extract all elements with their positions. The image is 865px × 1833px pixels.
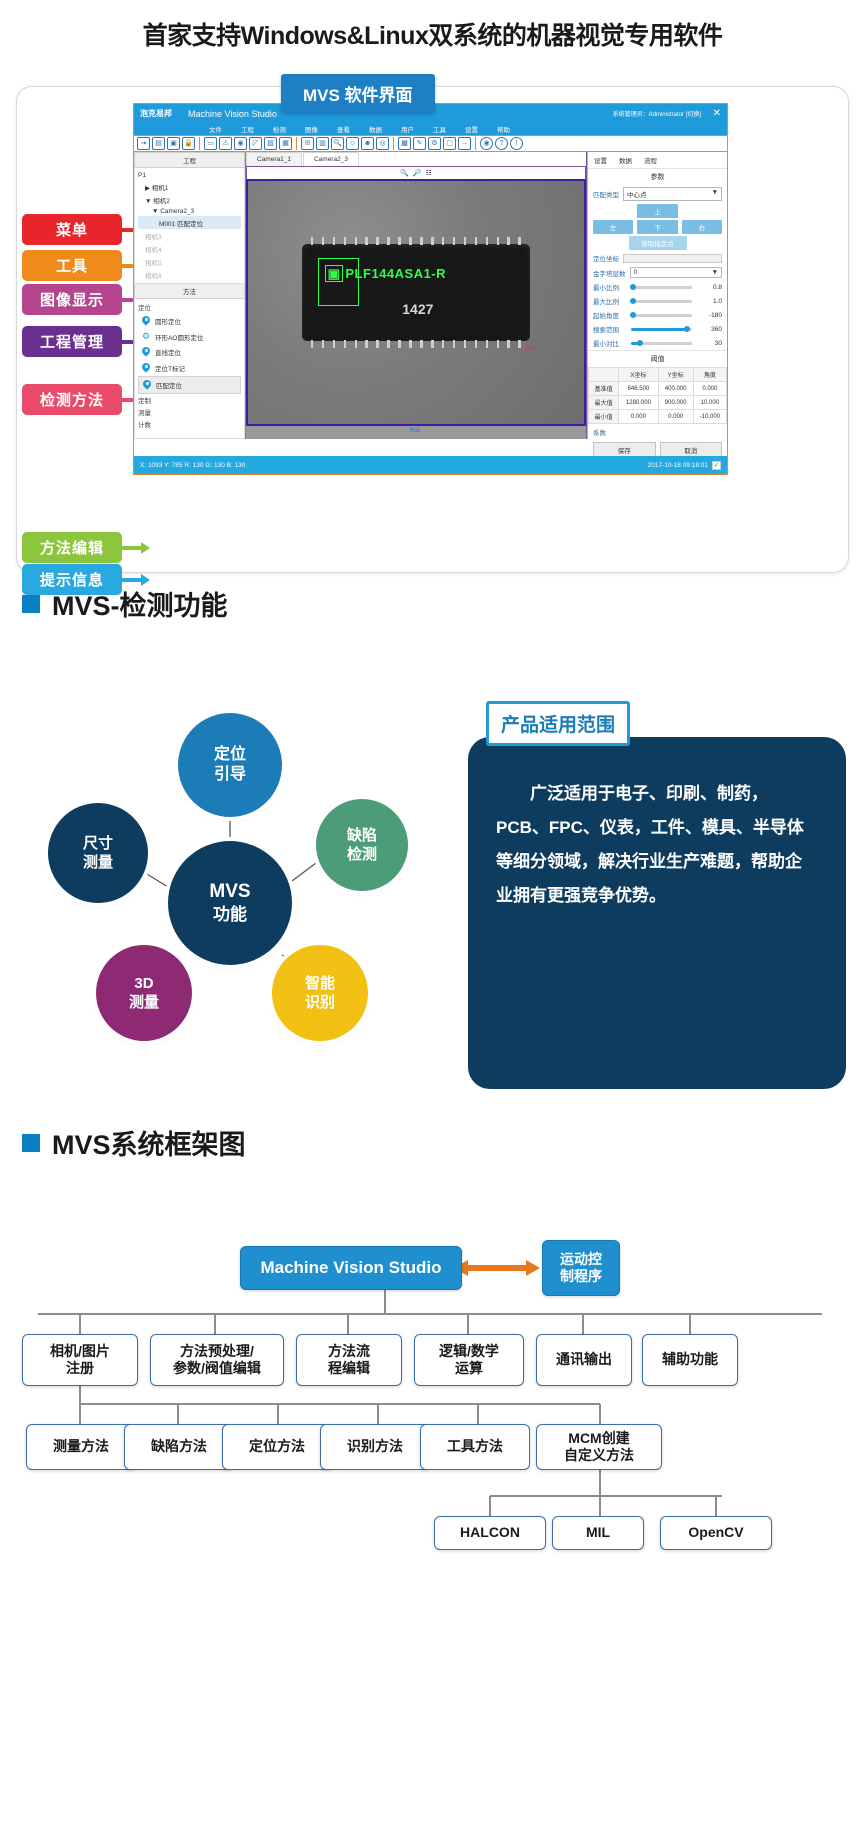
callout-status-info-label: 提示信息 xyxy=(40,572,104,589)
display-icon[interactable]: ▢ xyxy=(443,137,456,150)
function-wheel: 定位 引导 缺陷 检测 智能 识别 3D 测量 尺寸 测量 MVS 功能 xyxy=(10,703,450,1093)
menu-item-5[interactable]: 数据 xyxy=(369,124,382,134)
tree-node-6[interactable]: 相机4 xyxy=(138,242,241,255)
framework-l1-box-4-line0: 通讯输出 xyxy=(556,1351,612,1369)
load-file-icon[interactable]: ▣ xyxy=(167,137,180,150)
threshold-title: 阈值 xyxy=(588,350,727,367)
slider-row-1: 最大比例1.0 xyxy=(588,294,727,308)
grid-icon[interactable]: ▩ xyxy=(398,137,411,150)
mvs-app-title: Machine Vision Studio xyxy=(188,109,277,119)
slider-track-2[interactable] xyxy=(631,314,692,317)
callout-method-edit: 方法编辑 xyxy=(22,532,122,563)
framework-l3-box-0-line0: HALCON xyxy=(460,1524,520,1542)
framework-l1-box-0[interactable]: 相机/图片注册 xyxy=(22,1334,138,1386)
target-icon[interactable]: ◎ xyxy=(376,137,389,150)
zoom-out-icon[interactable]: 🔎 xyxy=(413,169,422,177)
document-search-icon[interactable]: ▦ xyxy=(279,137,292,150)
mail-icon[interactable]: ✉ xyxy=(301,137,314,150)
slider-label-0: 最小比例 xyxy=(593,282,627,292)
slider-track-0[interactable] xyxy=(631,286,692,289)
tree-node-4[interactable]: M001 匹配定位 xyxy=(138,216,241,229)
slider-knob-3[interactable] xyxy=(684,326,690,332)
pyramid-row: 金字塔层数 0 ▼ xyxy=(588,265,727,280)
gear-icon: ⚙ xyxy=(142,332,150,341)
info-icon[interactable]: ! xyxy=(510,137,523,150)
framework-l1-box-2-line1: 程编辑 xyxy=(328,1360,370,1378)
framework-l1-box-3-line0: 逻辑/数学 xyxy=(439,1343,499,1361)
method-item-2[interactable]: 直线定位 xyxy=(138,344,241,360)
framework-l1-box-1[interactable]: 方法预处理/参数/阀值编辑 xyxy=(150,1334,284,1386)
heading-bullet-icon xyxy=(22,595,40,613)
slider-row-0: 最小比例0.8 xyxy=(588,280,727,294)
chip-marking-text: ▣PLF144ASA1-R xyxy=(325,266,446,282)
method-group-2[interactable]: 计数 xyxy=(138,418,241,430)
slider-knob-2[interactable] xyxy=(630,312,636,318)
framework-motion-control-box[interactable]: 运动控 制程序 xyxy=(542,1240,620,1296)
tree-node-2[interactable]: ▼ 相机2 xyxy=(138,193,241,206)
parameter-sliders[interactable]: 最小比例0.8最大比例1.0起始角度-180搜索范围360最小对比30 xyxy=(588,280,727,350)
method-item-label-2: 直线定位 xyxy=(155,347,181,357)
get-point-row: 获取指定点 xyxy=(588,235,727,251)
table-cell-2-1: 0.000 xyxy=(619,410,658,424)
function-node-recognition-line2: 识别 xyxy=(305,993,335,1012)
slider-value-0: 0.8 xyxy=(696,284,722,291)
status-timestamp: 2017-10-18 09:18:01 xyxy=(648,462,708,469)
right-tab-1[interactable]: 数据 xyxy=(619,155,632,165)
menu-item-4[interactable]: 查看 xyxy=(337,124,350,134)
table-cell-1-1: 1280.000 xyxy=(619,396,658,410)
callout-menu: 菜单 xyxy=(22,214,122,245)
toolbar-separator xyxy=(393,137,394,150)
table-cell-1-3: 10.000 xyxy=(693,396,726,410)
table-cell-2-0: 最小值 xyxy=(589,410,619,424)
camera-tab-1[interactable]: Camera2_3 xyxy=(303,152,359,166)
wifi-icon[interactable]: ◉ xyxy=(480,137,493,150)
product-scope-text: 广泛适用于电子、印刷、制药，PCB、FPC、仪表，工件、模具、半导体等细分领域，… xyxy=(496,777,818,913)
table-row: 最大值1280.000900.00010.000 xyxy=(589,396,727,410)
zoom-in-icon[interactable]: 🔍 xyxy=(400,169,409,177)
match-type-value: 中心点 xyxy=(627,189,647,199)
slider-row-3: 搜索范围360 xyxy=(588,322,727,336)
table-row: 基准值646.500400.0000.000 xyxy=(589,382,727,396)
locate-coord-row: 定位坐标 xyxy=(588,251,727,265)
right-tab-0[interactable]: 设置 xyxy=(594,155,607,165)
framework-l2-box-2-line0: 定位方法 xyxy=(249,1438,305,1456)
table-cell-2-2: 0.000 xyxy=(658,410,693,424)
threshold-table: X坐标Y坐标角度基准值646.500400.0000.000最大值1280.00… xyxy=(588,367,727,424)
table-header-0 xyxy=(589,368,619,382)
tree-node-0[interactable]: P1 xyxy=(138,170,241,180)
table-header-2: Y坐标 xyxy=(658,368,693,382)
pin-icon xyxy=(142,316,150,327)
menu-item-8[interactable]: 设置 xyxy=(465,124,478,134)
direction-right-button[interactable]: 右 xyxy=(682,220,722,234)
camera-icon[interactable]: ◉ xyxy=(234,137,247,150)
tree-node-1[interactable]: ▶ 相机1 xyxy=(138,180,241,193)
method-item-1[interactable]: ⚙环形AO圆形定位 xyxy=(138,329,241,344)
mvs-center-panel: Camera1_1Camera2_3 🔍 🔎 ☷ ▣PLF144AS xyxy=(246,152,587,439)
callout-tools: 工具 xyxy=(22,250,122,281)
callout-method-edit-label: 方法编辑 xyxy=(40,540,104,557)
framework-l1-box-1-line1: 参数/阀值编辑 xyxy=(173,1360,261,1378)
mvs-left-panel: 工程 P1▶ 相机1▼ 相机2▼ Camera2_3M001 匹配定位相机3相机… xyxy=(134,152,246,439)
framework-diagram: Machine Vision Studio 运动控 制程序 相机/图片注册方法预… xyxy=(0,1234,865,1574)
parameters-title: 参数 xyxy=(588,169,727,185)
slider-track-3[interactable] xyxy=(631,328,692,331)
menu-item-0[interactable]: 文件 xyxy=(209,124,222,134)
camera-tab-0[interactable]: Camera1_1 xyxy=(246,152,302,166)
chevron-down-icon: ▼ xyxy=(712,189,718,199)
framework-motion-control-line1: 运动控 xyxy=(560,1251,602,1269)
locate-coord-label: 定位坐标 xyxy=(593,253,619,263)
mvs-right-panel: 设置数据流程 参数 匹配类型 中心点 ▼ 上 左 下 xyxy=(587,152,727,439)
framework-l1-box-5-line0: 辅助功能 xyxy=(662,1351,718,1369)
slider-row-2: 起始角度-180 xyxy=(588,308,727,322)
callout-tools-label: 工具 xyxy=(56,258,88,275)
slider-row-4: 最小对比30 xyxy=(588,336,727,350)
mvs-status-bar: X: 1093 Y: 785 R: 130 G: 130 B: 130 2017… xyxy=(134,456,727,474)
framework-section-heading: MVS系统框架图 xyxy=(22,1123,865,1162)
function-node-defect[interactable]: 缺陷 检测 xyxy=(316,799,408,891)
function-node-recognition[interactable]: 智能 识别 xyxy=(272,945,368,1041)
framework-l2-box-5-line0: MCM创建 xyxy=(568,1430,629,1448)
framework-l1-box-2-line0: 方法流 xyxy=(328,1343,370,1361)
toolbar-separator xyxy=(296,137,297,150)
callout-project-management-label: 工程管理 xyxy=(40,334,104,351)
right-panel-tabs[interactable]: 设置数据流程 xyxy=(588,152,727,169)
slider-value-1: 1.0 xyxy=(696,298,722,305)
function-node-center-line1: MVS xyxy=(209,880,250,904)
function-node-center-line2: 功能 xyxy=(213,904,247,926)
framework-l3-box-2-line0: OpenCV xyxy=(688,1524,743,1542)
camera-tab-strip[interactable]: Camera1_1Camera2_3 xyxy=(246,152,586,166)
function-node-3d[interactable]: 3D 测量 xyxy=(96,945,192,1041)
framework-l3-box-1[interactable]: MIL xyxy=(552,1516,644,1550)
function-node-center[interactable]: MVS 功能 xyxy=(168,841,292,965)
export-icon[interactable]: ⇥ xyxy=(137,137,150,150)
table-cell-1-2: 900.000 xyxy=(658,396,693,410)
project-tree[interactable]: P1▶ 相机1▼ 相机2▼ Camera2_3M001 匹配定位相机3相机4相机… xyxy=(134,168,245,284)
function-node-positioning-line2: 引导 xyxy=(214,765,246,785)
function-node-3d-line2: 测量 xyxy=(129,993,159,1012)
framework-l2-box-5-line1: 自定义方法 xyxy=(564,1447,634,1465)
table-cell-0-2: 400.000 xyxy=(658,382,693,396)
status-check-icon: ✓ xyxy=(712,461,721,470)
slider-value-2: -180 xyxy=(696,312,722,319)
framework-l2-box-3-line0: 识别方法 xyxy=(347,1438,403,1456)
image-icon[interactable]: ▨ xyxy=(264,137,277,150)
mvs-menu-bar[interactable]: 文件工程检测图像查看数据用户工具设置帮助 xyxy=(134,123,727,135)
function-node-positioning[interactable]: 定位 引导 xyxy=(178,713,282,817)
chip-logo-icon: ▣ xyxy=(325,265,344,282)
chart-icon[interactable]: ▥ xyxy=(316,137,329,150)
framework-l2-box-3[interactable]: 识别方法 xyxy=(320,1424,430,1470)
tree-node-7[interactable]: 相机5 xyxy=(138,255,241,268)
framework-heading-text: MVS系统框架图 xyxy=(52,1123,246,1162)
framework-l1-box-3[interactable]: 逻辑/数学运算 xyxy=(414,1334,524,1386)
framework-l1-box-2[interactable]: 方法流程编辑 xyxy=(296,1334,402,1386)
framework-root-box[interactable]: Machine Vision Studio xyxy=(240,1246,462,1290)
function-node-dimension[interactable]: 尺寸 测量 xyxy=(48,803,148,903)
mvs-application-window: 泡克易邦 Machine Vision Studio 系统管理员：Adminis… xyxy=(133,103,728,475)
slider-knob-1[interactable] xyxy=(630,298,636,304)
slider-label-4: 最小对比 xyxy=(593,338,627,348)
tree-node-5[interactable]: 相机3 xyxy=(138,229,241,242)
function-node-defect-line1: 缺陷 xyxy=(347,826,377,845)
framework-l1-box-1-line0: 方法预处理/ xyxy=(180,1343,254,1361)
framework-l3-box-0[interactable]: HALCON xyxy=(434,1516,546,1550)
framework-l1-box-5[interactable]: 辅助功能 xyxy=(642,1334,738,1386)
slider-knob-0[interactable] xyxy=(630,284,636,290)
pin-icon xyxy=(142,347,150,358)
coefficient-row: 系数 xyxy=(588,424,727,439)
direction-row-up: 上 xyxy=(588,203,727,219)
mvs-ui-badge: MVS 软件界面 xyxy=(281,74,435,113)
gear-icon[interactable]: ⚙ xyxy=(428,137,441,150)
heading-bullet-icon xyxy=(22,1134,40,1152)
function-node-positioning-line1: 定位 xyxy=(214,745,246,765)
callout-image-display-label: 图像显示 xyxy=(40,292,104,309)
mvs-body: 工程 P1▶ 相机1▼ 相机2▼ Camera2_3M001 匹配定位相机3相机… xyxy=(134,152,727,439)
method-item-0[interactable]: 圆形定位 xyxy=(138,313,241,329)
callout-status-info: 提示信息 xyxy=(22,564,122,595)
help-icon[interactable]: ? xyxy=(495,137,508,150)
match-type-label: 匹配类型 xyxy=(593,189,619,199)
direction-up-button[interactable]: 上 xyxy=(637,204,677,218)
product-scope-panel: 产品适用范围 广泛适用于电子、印刷、制药，PCB、FPC、仪表，工件、模具、半导… xyxy=(468,737,846,1089)
method-group-1[interactable]: 测量 xyxy=(138,406,241,418)
slider-track-1[interactable] xyxy=(631,300,692,303)
roi-label-r02: R02 xyxy=(409,428,420,434)
chip-pins-top xyxy=(311,237,521,245)
product-scope-badge: 产品适用范围 xyxy=(486,701,630,746)
chip-pins-bottom xyxy=(311,340,521,348)
slider-value-3: 360 xyxy=(696,326,722,333)
table-cell-0-0: 基准值 xyxy=(589,382,619,396)
monitor-icon[interactable]: ▭ xyxy=(204,137,217,150)
callout-detection-method: 检测方法 xyxy=(22,384,122,415)
pyramid-select[interactable]: 0 ▼ xyxy=(630,267,723,278)
crop-icon[interactable]: ◸ xyxy=(249,137,262,150)
table-row: 最小值0.0000.000-10.000 xyxy=(589,410,727,424)
warning-icon[interactable]: ⚠ xyxy=(219,137,232,150)
fit-icon[interactable]: ☷ xyxy=(426,169,432,177)
framework-l1-box-0-line1: 注册 xyxy=(66,1360,94,1378)
method-item-3[interactable]: 定位T标记 xyxy=(138,360,241,376)
locate-coord-input[interactable] xyxy=(623,254,722,263)
slider-knob-4[interactable] xyxy=(637,340,643,346)
framework-l1-box-4[interactable]: 通讯输出 xyxy=(536,1334,632,1386)
arrow-right-icon[interactable]: → xyxy=(458,137,471,150)
slider-label-3: 搜索范围 xyxy=(593,324,627,334)
function-node-recognition-line1: 智能 xyxy=(305,974,335,993)
page-title: 首家支持Windows&Linux双系统的机器视觉专用软件 xyxy=(0,0,865,52)
method-panel-header: 方法 xyxy=(134,284,245,299)
software-screenshot-section: MVS 软件界面 菜单 工具 图像显示 工程管理 检测方法 xyxy=(16,74,849,584)
direction-left-button[interactable]: 左 xyxy=(593,220,633,234)
framework-l3-box-1-line0: MIL xyxy=(586,1524,610,1542)
method-item-label-3: 定位T标记 xyxy=(155,363,185,373)
pyramid-label: 金字塔层数 xyxy=(593,268,626,278)
tree-node-3[interactable]: ▼ Camera2_3 xyxy=(138,206,241,216)
method-item-label-4: 匹配定位 xyxy=(156,380,182,390)
functions-section-heading: MVS-检测功能 xyxy=(22,584,865,623)
slider-track-4[interactable] xyxy=(631,342,692,345)
tree-node-8[interactable]: 相机6 xyxy=(138,268,241,281)
slider-label-2: 起始角度 xyxy=(593,310,627,320)
status-left-text: X: 1093 Y: 785 R: 130 G: 130 B: 130 xyxy=(140,462,245,469)
user-icon[interactable]: ☺ xyxy=(346,137,359,150)
toolbar-separator xyxy=(475,137,476,150)
right-tab-2[interactable]: 流程 xyxy=(644,155,657,165)
direction-row-lrd: 左 下 右 xyxy=(588,219,727,235)
table-cell-0-3: 0.000 xyxy=(693,382,726,396)
pin-icon xyxy=(143,380,151,391)
function-node-dimension-line1: 尺寸 xyxy=(83,834,113,853)
framework-l2-box-1[interactable]: 缺陷方法 xyxy=(124,1424,234,1470)
match-type-select[interactable]: 中心点 ▼ xyxy=(623,187,722,201)
functions-section: 定位 引导 缺陷 检测 智能 识别 3D 测量 尺寸 测量 MVS 功能 产品适… xyxy=(0,653,865,1123)
method-item-label-0: 圆形定位 xyxy=(155,316,181,326)
pyramid-value: 0 xyxy=(634,269,638,276)
match-type-row: 匹配类型 中心点 ▼ xyxy=(588,185,727,203)
callout-menu-label: 菜单 xyxy=(56,222,88,239)
menu-item-9[interactable]: 帮助 xyxy=(497,124,510,134)
framework-l2-box-0-line0: 测量方法 xyxy=(53,1438,109,1456)
get-point-button[interactable]: 获取指定点 xyxy=(629,236,687,250)
framework-l3-box-2[interactable]: OpenCV xyxy=(660,1516,772,1550)
table-header-3: 角度 xyxy=(693,368,726,382)
slider-value-4: 30 xyxy=(696,340,722,347)
close-icon[interactable]: ✕ xyxy=(713,108,721,119)
search-icon[interactable]: 🔍 xyxy=(331,137,344,150)
method-item-4[interactable]: 匹配定位 xyxy=(138,376,241,394)
menu-item-6[interactable]: 用户 xyxy=(401,124,414,134)
framework-l2-box-0[interactable]: 测量方法 xyxy=(26,1424,136,1470)
image-canvas[interactable]: ▣PLF144ASA1-R 1427 R01 xyxy=(246,179,586,426)
framework-l2-box-4[interactable]: 工具方法 xyxy=(420,1424,530,1470)
coefficient-label: 系数 xyxy=(593,427,606,437)
save-settings-icon[interactable]: ▤ xyxy=(152,137,165,150)
roi-label-r01: R01 xyxy=(526,346,537,352)
callout-method-edit-arrow xyxy=(122,544,150,552)
chip-image: ▣PLF144ASA1-R 1427 xyxy=(302,244,530,341)
image-bottom-bar: R02 xyxy=(246,426,586,439)
mvs-brand-label: 泡克易邦 xyxy=(140,108,172,119)
slider-label-1: 最大比例 xyxy=(593,296,627,306)
image-toolbar[interactable]: 🔍 🔎 ☷ xyxy=(246,166,586,179)
table-header-1: X坐标 xyxy=(619,368,658,382)
framework-motion-control-line2: 制程序 xyxy=(560,1268,602,1286)
table-cell-1-0: 最大值 xyxy=(589,396,619,410)
pen-icon[interactable]: ✎ xyxy=(413,137,426,150)
callout-project-management: 工程管理 xyxy=(22,326,122,357)
method-list[interactable]: 定位圆形定位⚙环形AO圆形定位直线定位定位T标记匹配定位定制测量计数 xyxy=(134,299,245,439)
function-node-defect-line2: 检测 xyxy=(347,845,377,864)
mvs-tool-bar[interactable]: ⇥▤▣🔒▭⚠◉◸▨▦✉▥🔍☺☻◎▩✎⚙▢→◉?! xyxy=(134,135,727,152)
direction-down-button[interactable]: 下 xyxy=(637,220,677,234)
framework-l1-box-3-line1: 运算 xyxy=(455,1360,483,1378)
callout-image-display: 图像显示 xyxy=(22,284,122,315)
mvs-admin-label: 系统管理员：Administrator [切换] xyxy=(613,109,701,118)
framework-l2-box-1-line0: 缺陷方法 xyxy=(151,1438,207,1456)
method-item-label-1: 环形AO圆形定位 xyxy=(155,332,203,342)
framework-l2-box-4-line0: 工具方法 xyxy=(447,1438,503,1456)
menu-item-1[interactable]: 工程 xyxy=(241,124,254,134)
menu-item-2[interactable]: 检测 xyxy=(273,124,286,134)
framework-l2-box-5[interactable]: MCM创建自定义方法 xyxy=(536,1424,662,1470)
person-icon[interactable]: ☻ xyxy=(361,137,374,150)
chip-text-value: PLF144ASA1-R xyxy=(345,266,446,281)
table-cell-2-3: -10.000 xyxy=(693,410,726,424)
function-node-dimension-line2: 测量 xyxy=(83,853,113,872)
lock-icon[interactable]: 🔒 xyxy=(182,137,195,150)
method-category-label: 定位 xyxy=(138,301,241,313)
table-header-row: X坐标Y坐标角度 xyxy=(589,368,727,382)
menu-item-3[interactable]: 图像 xyxy=(305,124,318,134)
function-node-3d-line1: 3D xyxy=(134,974,153,993)
pin-t-icon xyxy=(142,363,150,374)
method-group-0[interactable]: 定制 xyxy=(138,394,241,406)
chip-date-code: 1427 xyxy=(402,301,433,317)
project-panel-header: 工程 xyxy=(134,152,245,168)
menu-item-7[interactable]: 工具 xyxy=(433,124,446,134)
table-cell-0-1: 646.500 xyxy=(619,382,658,396)
callout-detection-method-label: 检测方法 xyxy=(40,392,104,409)
framework-l2-box-2[interactable]: 定位方法 xyxy=(222,1424,332,1470)
framework-section: Machine Vision Studio 运动控 制程序 相机/图片注册方法预… xyxy=(0,1190,865,1590)
framework-l1-box-0-line0: 相机/图片 xyxy=(50,1343,110,1361)
toolbar-separator xyxy=(199,137,200,150)
chevron-down-icon: ▼ xyxy=(712,269,718,276)
callout-status-info-arrow xyxy=(122,576,150,584)
